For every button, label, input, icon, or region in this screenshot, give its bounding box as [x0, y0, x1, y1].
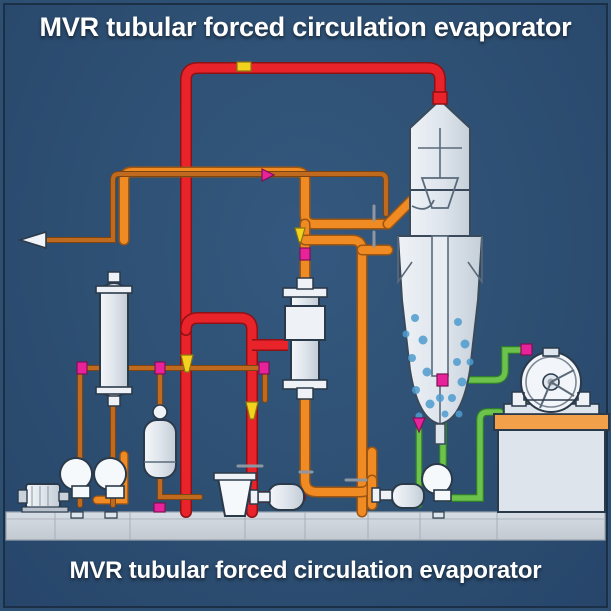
circulation-pump-2: [94, 458, 126, 518]
process-flow-diagram: [0, 0, 611, 611]
drive-motor: [18, 484, 69, 512]
valve-5: [154, 503, 165, 512]
valve-4: [300, 248, 310, 260]
diagram-page: MVR tubular forced circulation evaporato…: [0, 0, 611, 611]
product-pump: [422, 464, 452, 518]
valve-3: [259, 362, 269, 374]
floor-slab: [6, 512, 605, 540]
valve-7: [521, 344, 532, 355]
knockout-drum-1: [250, 484, 304, 510]
compressor-skid-tank: [494, 414, 609, 512]
valve-6: [437, 374, 448, 386]
flow-marker-1: [237, 62, 251, 71]
condenser-center: [283, 278, 327, 399]
valve-2: [155, 362, 165, 374]
knockout-drum-2: [372, 484, 424, 508]
heat-exchanger-left: [96, 272, 132, 406]
separator-vessel: [398, 92, 482, 444]
valve-1: [77, 362, 87, 374]
surge-tank: [144, 405, 176, 478]
valve-8: [413, 418, 425, 432]
page-title: MVR tubular forced circulation evaporato…: [0, 12, 611, 43]
page-caption: MVR tubular forced circulation evaporato…: [0, 557, 611, 585]
mvr-compressor: [504, 348, 599, 414]
feed-inlet-arrow-icon: [20, 232, 46, 248]
